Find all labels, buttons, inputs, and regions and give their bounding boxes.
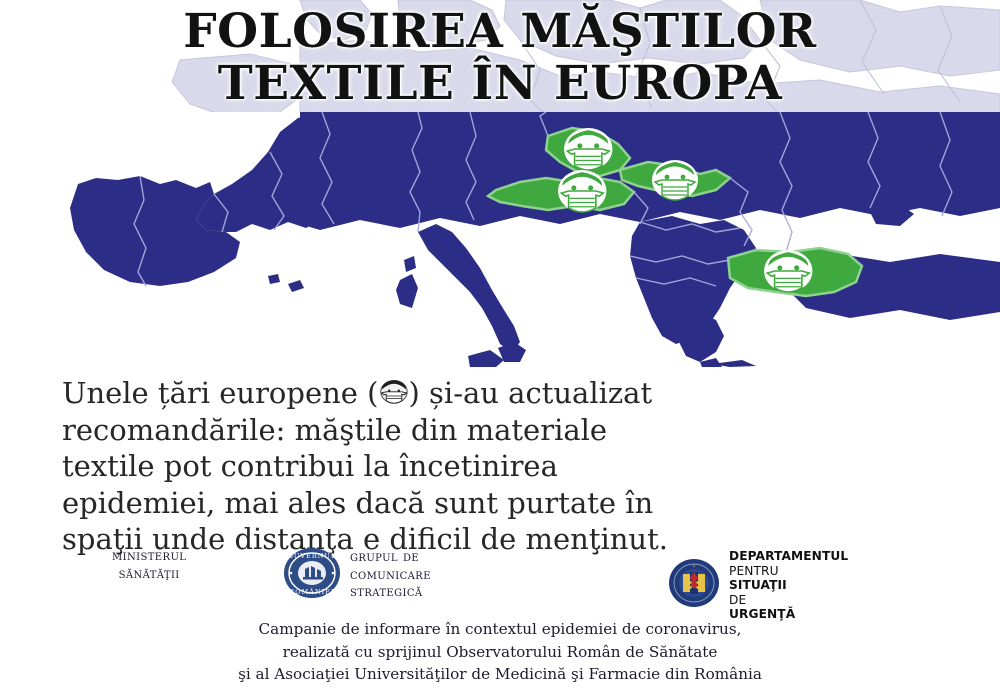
page-title: FOLOSIREA MĂŞTILOR TEXTILE ÎN EUROPA [0,6,1000,110]
logo-ms-line-2: Sănătăţii [112,566,186,584]
svg-text:GUVERNUL: GUVERNUL [288,552,337,560]
footer-line-3: şi al Asociaţiei Universităţilor de Medi… [0,663,1000,686]
logo-ministerul-sanatatii-label: Ministerul Sănătăţii [112,548,186,583]
body-text-line-1-b: ) și-au actualizat [409,376,653,410]
logo-dsu-label: DEPARTAMENTUL PENTRU SITUAŢII DE URGENŢĂ [729,549,848,622]
logo-gcs-line-1: Grupul de [350,549,431,567]
body-text-line-1: Unele țări europene ( ) și-au actualizat [62,375,942,412]
page-title-line-2: TEXTILE ÎN EUROPA [0,58,1000,110]
logo-dsu-line-2-b: SITUAŢII [729,578,848,593]
footer-line-1: Campanie de informare în contextul epide… [0,618,1000,641]
logo-dsu-line-3-a: DE [729,593,848,608]
face-mask-icon [379,378,409,408]
body-text: Unele țări europene ( ) și-au actualizat… [62,375,942,558]
logo-gcs-label: Grupul de Comunicare Strategică [350,549,431,602]
logo-ministerul-sanatatii: Ministerul Sănătăţii [112,548,186,583]
body-text-line-4: epidemiei, mai ales dacă sunt purtate în [62,485,942,522]
body-text-line-3: textile pot contribui la încetinirea [62,448,942,485]
page-title-line-1: FOLOSIREA MĂŞTILOR [0,6,1000,58]
logo-gcs-line-2: Comunicare [350,567,431,585]
footer-line-2: realizată cu sprijinul Observatorului Ro… [0,641,1000,664]
svg-text:ROMÂNIEI: ROMÂNIEI [289,587,334,596]
logo-grupul-de-comunicare-strategica: GUVERNUL ROMÂNIEI Grupul de Comunicare S… [283,547,431,604]
logo-dsu-line-1: DEPARTAMENTUL [729,549,848,564]
europe-map [0,112,1000,367]
logo-gcs-line-3: Strategică [350,584,431,602]
face-mask-icon [652,160,698,200]
footer-credits: Campanie de informare în contextul epide… [0,618,1000,686]
guvernul-romaniei-seal: GUVERNUL ROMÂNIEI [283,547,341,604]
body-text-line-1-a: Unele țări europene ( [62,376,379,410]
infographic-poster: FOLOSIREA MĂŞTILOR TEXTILE ÎN EUROPA [0,0,1000,688]
face-mask-icon [558,170,606,212]
logo-ms-line-1: Ministerul [112,548,186,566]
face-mask-icon [764,250,812,292]
dsu-emblem-icon [668,558,720,613]
logo-dsu-line-2: PENTRU SITUAŢII [729,564,848,593]
face-mask-icon [564,128,612,170]
logo-dsu-line-2-a: PENTRU [729,564,848,579]
logo-departamentul-pentru-situatii-de-urgenta: DEPARTAMENTUL PENTRU SITUAŢII DE URGENŢĂ [668,549,848,622]
body-text-line-2: recomandările: măştile din materiale [62,412,942,449]
logo-row: Ministerul Sănătăţii GUVERNUL ROMÂNIEI [0,545,1000,607]
